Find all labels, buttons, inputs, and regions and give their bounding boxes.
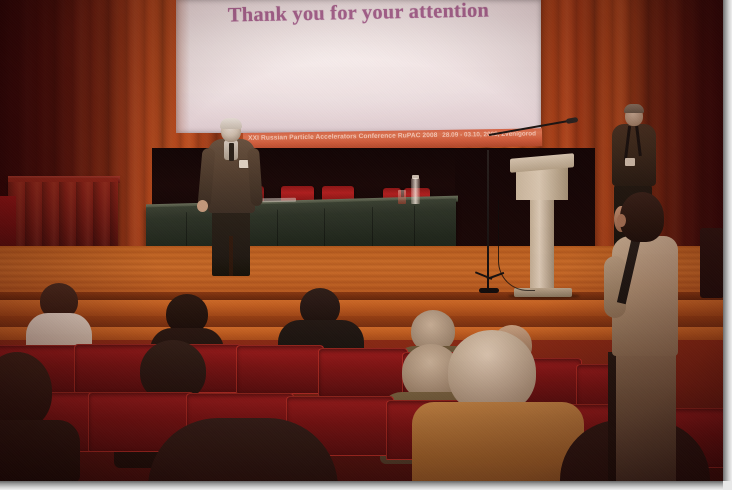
microphone-cable <box>498 200 535 291</box>
speaker-leg-gap <box>229 236 233 276</box>
foreground-attendee-ear <box>617 214 626 227</box>
seat <box>236 345 324 394</box>
water-bottle <box>411 178 420 204</box>
photo-border-right <box>723 0 732 490</box>
foreground-attendee-head <box>620 192 664 242</box>
drinking-glass <box>398 190 406 204</box>
stage-attendee-badge <box>625 158 635 166</box>
foreground-attendee-legs <box>616 350 676 481</box>
microphone-stand-pole <box>487 150 489 292</box>
photograph: Thank you for your attention XXI Russian… <box>0 0 732 490</box>
stage-chair-right <box>700 228 723 298</box>
photo-border-bottom <box>0 481 732 490</box>
photo-border-corner <box>723 481 732 490</box>
stage-attendee-torso <box>612 124 656 186</box>
conference-banner-title: XXI Russian Particle Accelerators Confer… <box>248 132 438 142</box>
speaker-hair <box>220 118 242 129</box>
speaker-tie <box>229 143 234 161</box>
microphone-stand-base <box>479 288 499 293</box>
conference-hall-scene: Thank you for your attention XXI Russian… <box>0 0 723 481</box>
speaker-hand <box>197 200 208 212</box>
seat <box>318 348 408 397</box>
stage-attendee-hair <box>624 104 644 113</box>
papers-on-table <box>262 198 296 203</box>
